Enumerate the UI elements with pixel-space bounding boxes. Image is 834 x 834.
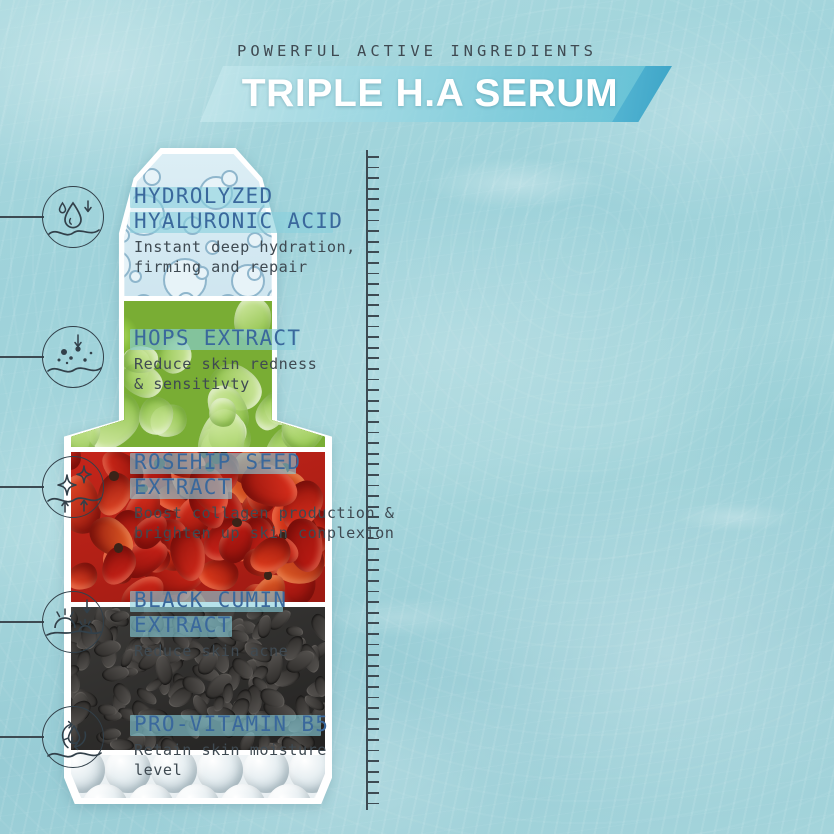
ingredient-name: ROSEHIP SEED EXTRACT xyxy=(134,450,584,500)
ruler-tick xyxy=(368,675,379,677)
berry-calyx xyxy=(109,471,119,481)
ingredient-name: BLACK CUMIN EXTRACT xyxy=(134,588,584,638)
ruler-tick xyxy=(368,156,379,158)
ingredient-description: Reduce skin acne xyxy=(134,641,584,661)
ruler-tick xyxy=(368,697,379,699)
foam-bubble xyxy=(81,266,95,280)
connector-line xyxy=(0,736,44,738)
ruler-tick xyxy=(368,569,379,571)
berry-calyx xyxy=(114,543,123,552)
hops-cone xyxy=(71,301,83,314)
moisture-recycle-icon xyxy=(42,706,104,768)
ruler-tick xyxy=(368,559,379,561)
ruler-tick xyxy=(368,167,379,169)
ruler-tick xyxy=(368,315,379,317)
ingredient-text-block: BLACK CUMIN EXTRACTReduce skin acne xyxy=(134,588,584,661)
pimple-reduce-icon xyxy=(42,591,104,653)
title-banner: TRIPLE H.A SERUM xyxy=(0,66,834,122)
ingredient-name: PRO-VITAMIN B5 xyxy=(134,712,584,737)
page-title: TRIPLE H.A SERUM xyxy=(200,66,660,122)
ruler-tick xyxy=(368,294,379,296)
ingredient-text-block: HOPS EXTRACTReduce skin redness & sensit… xyxy=(134,326,584,394)
sparkle-uplift-icon xyxy=(42,456,104,518)
foam-bubble xyxy=(91,286,115,296)
ruler-tick xyxy=(368,421,379,423)
ruler-tick xyxy=(368,548,379,550)
connector-line xyxy=(0,486,44,488)
foam-bubble xyxy=(101,250,131,280)
hops-cone xyxy=(71,384,104,422)
cumin-seed xyxy=(110,739,134,750)
ingredient-text-block: PRO-VITAMIN B5Retain skin moisture level xyxy=(134,712,584,780)
ruler-tick xyxy=(368,283,379,285)
ruler-tick xyxy=(368,177,379,179)
acne-spots-wave-icon xyxy=(42,326,104,388)
connector-line xyxy=(0,621,44,623)
rosehip-berry xyxy=(71,559,102,595)
ingredient-description: Reduce skin redness & sensitivty xyxy=(134,354,584,394)
ingredient-text-block: HYDROLYZED HYALURONIC ACIDInstant deep h… xyxy=(134,184,584,277)
ingredient-name: HOPS EXTRACT xyxy=(134,326,584,351)
ruler-tick xyxy=(368,410,379,412)
ingredient-description: Retain skin moisture level xyxy=(134,740,584,780)
layer-divider xyxy=(71,296,325,301)
ruler-tick xyxy=(368,707,379,709)
ruler-tick xyxy=(368,792,379,794)
ingredient-description: Instant deep hydration, firming and repa… xyxy=(134,237,584,277)
ruler-tick xyxy=(368,686,379,688)
ruler-tick xyxy=(368,304,379,306)
foam-bubble xyxy=(303,278,320,295)
ruler-tick xyxy=(368,442,379,444)
ingredient-description: Boost collagen production & brighten up … xyxy=(134,503,584,543)
eyebrow-text: POWERFUL ACTIVE INGREDIENTS xyxy=(0,42,834,60)
ingredient-text-block: ROSEHIP SEED EXTRACTBoost collagen produ… xyxy=(134,450,584,543)
ruler-tick xyxy=(368,781,379,783)
ruler-tick xyxy=(368,432,379,434)
ruler-tick xyxy=(368,803,379,805)
ingredient-name: HYDROLYZED HYALURONIC ACID xyxy=(134,184,584,234)
connector-line xyxy=(0,356,44,358)
connector-line xyxy=(0,216,44,218)
ruler-tick xyxy=(368,665,379,667)
water-drop-wave-icon xyxy=(42,186,104,248)
ruler-tick xyxy=(368,580,379,582)
ruler-tick xyxy=(368,400,379,402)
